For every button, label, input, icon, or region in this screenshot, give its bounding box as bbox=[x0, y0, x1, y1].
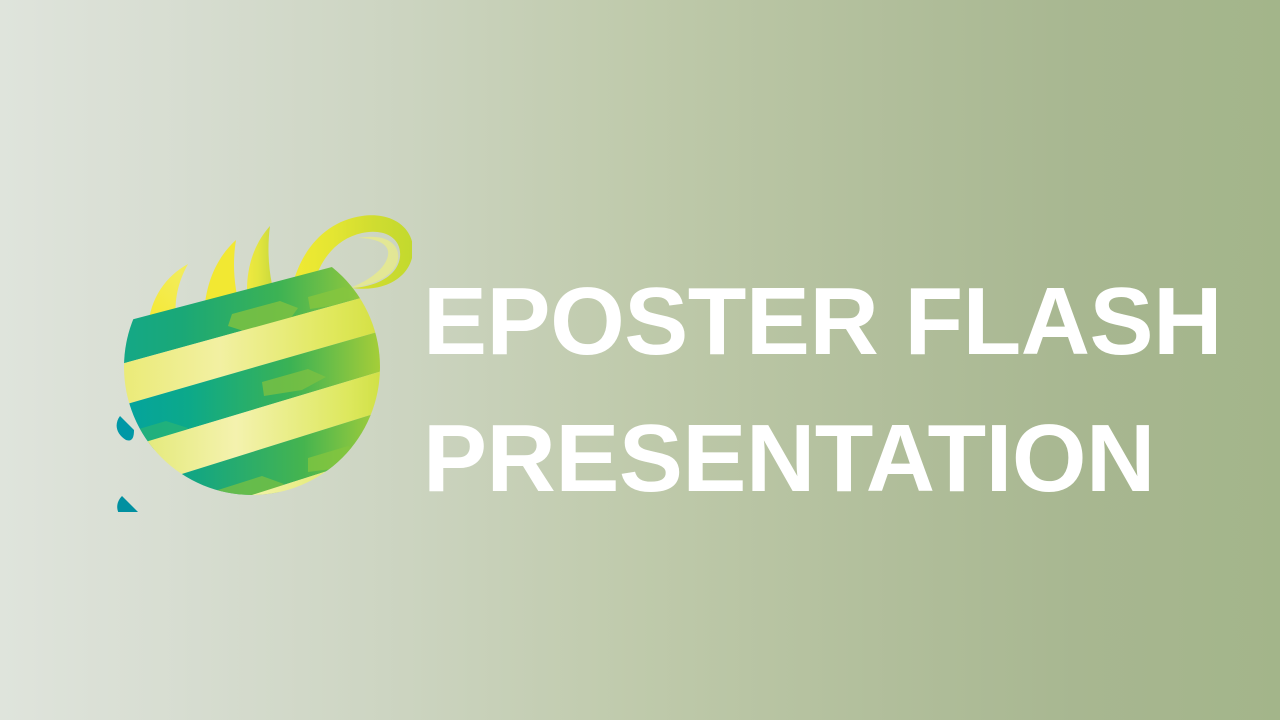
globe-ribbon-logo bbox=[112, 202, 412, 512]
title-block: EPOSTER FLASH PRESENTATION bbox=[423, 253, 1223, 527]
globe-logo-svg bbox=[112, 202, 412, 512]
title-line-2: PRESENTATION bbox=[423, 390, 1223, 527]
title-line-1: EPOSTER FLASH bbox=[423, 253, 1223, 390]
title-slide: EPOSTER FLASH PRESENTATION bbox=[0, 0, 1280, 720]
